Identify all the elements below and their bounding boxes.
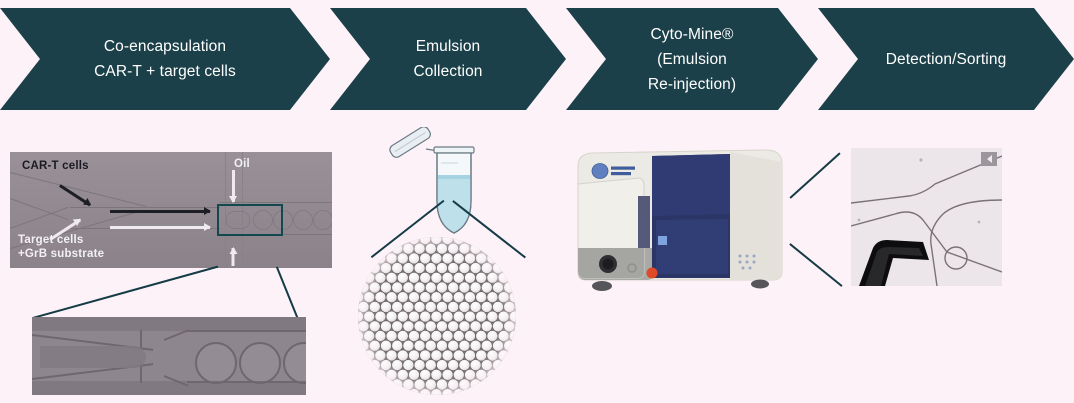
co-encapsulation-micrograph: CAR-T cells Oil Target cells +GrB substr… (10, 152, 332, 268)
workflow-step-cyto-mine[interactable]: Cyto-Mine® (Emulsion Re-injection) (566, 8, 818, 110)
workflow-step-label: Emulsion Collection (405, 34, 490, 84)
oil-inlet-arrow-top (232, 170, 235, 202)
inset-top-wall (32, 317, 306, 331)
emulsion-droplets (358, 237, 516, 395)
workflow-step-emulsion-collection[interactable]: Emulsion Collection (330, 8, 566, 110)
emulsion-droplet-array (358, 237, 516, 395)
inset-channel-outline (164, 329, 189, 341)
workflow-step-co-encapsulation[interactable]: Co-encapsulation CAR-T + target cells (0, 8, 330, 110)
workflow-step-label: Detection/Sorting (878, 47, 1015, 72)
play-badge[interactable] (981, 152, 997, 166)
inset-droplet (239, 342, 281, 384)
label-cart-cells: CAR-T cells (22, 160, 89, 174)
callout-line-left (33, 266, 218, 319)
workflow-step-detection-sorting[interactable]: Detection/Sorting (818, 8, 1074, 110)
sorting-junction-illustration (851, 148, 1002, 286)
play-triangle-icon (987, 155, 992, 163)
tube-illustration (378, 127, 496, 242)
droplet-generation-inset (32, 317, 306, 395)
label-target-cells: Target cells +GrB substrate (18, 234, 104, 261)
flow-arrow-dark (110, 210, 210, 213)
cyto-mine-instrument (560, 144, 800, 304)
workflow-step-label: Co-encapsulation CAR-T + target cells (86, 34, 244, 84)
sorting-junction-micrograph (851, 148, 1002, 286)
channel-outline (70, 207, 220, 208)
flow-arrow-light (110, 226, 210, 229)
inset-channel-outline (187, 330, 306, 332)
droplet (293, 210, 313, 230)
instrument-illustration (560, 144, 800, 304)
inset-droplet (283, 342, 306, 384)
workflow-banner: Co-encapsulation CAR-T + target cells Em… (0, 8, 1074, 110)
inset-droplet (195, 342, 237, 384)
inset-fluid-thread (40, 346, 146, 368)
channel-outline (10, 172, 146, 207)
zoom-region-highlight (217, 204, 283, 236)
workflow-step-label: Cyto-Mine® (Emulsion Re-injection) (640, 22, 744, 97)
droplet (313, 210, 332, 230)
collection-tube (378, 127, 496, 242)
oil-inlet-arrow-bottom (232, 248, 235, 266)
callout-line-right (276, 266, 298, 319)
figure-canvas: Co-encapsulation CAR-T + target cells Em… (0, 0, 1074, 403)
label-oil: Oil (234, 158, 250, 172)
